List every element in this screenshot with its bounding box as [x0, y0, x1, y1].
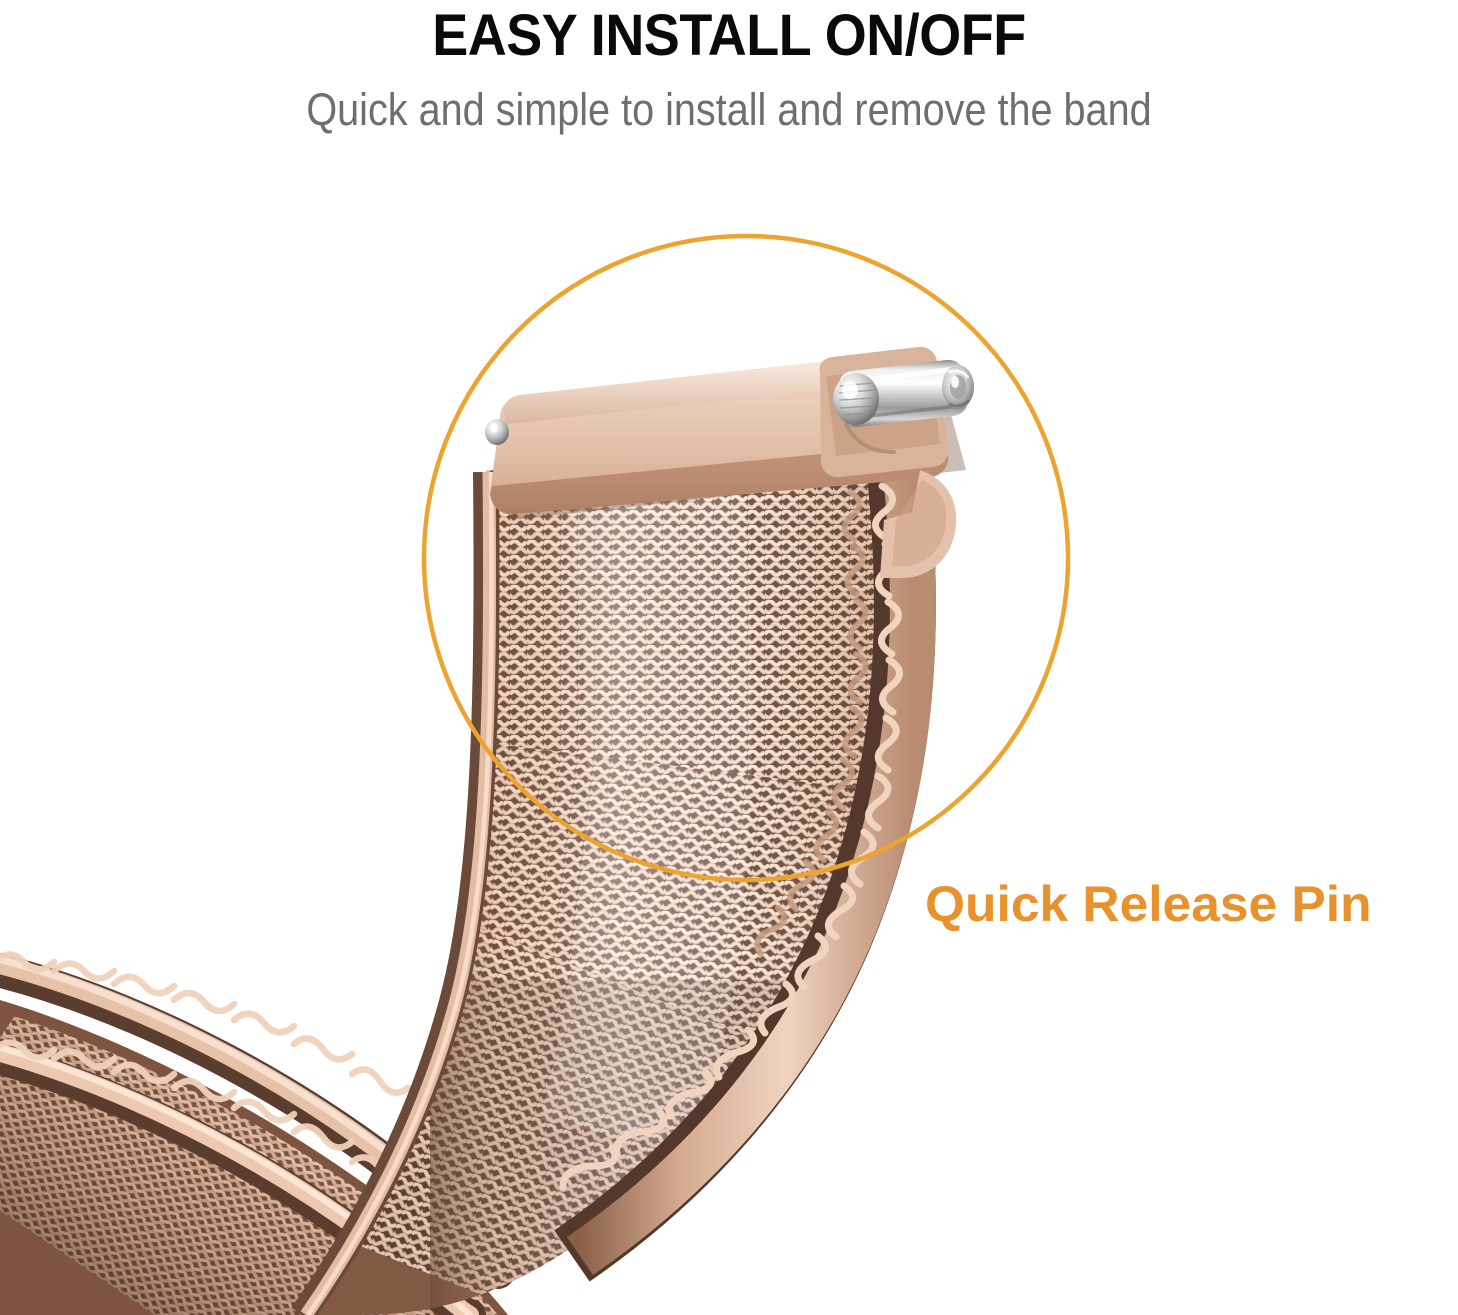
page-subtitle: Quick and simple to install and remove t…: [87, 84, 1370, 136]
callout-label-quick-release-pin: Quick Release Pin: [925, 875, 1372, 933]
product-feature-image: EASY INSTALL ON/OFF Quick and simple to …: [0, 0, 1458, 1315]
page-title: EASY INSTALL ON/OFF: [51, 2, 1407, 69]
left-pin-nub: [485, 419, 509, 445]
product-illustration: [0, 0, 1458, 1315]
